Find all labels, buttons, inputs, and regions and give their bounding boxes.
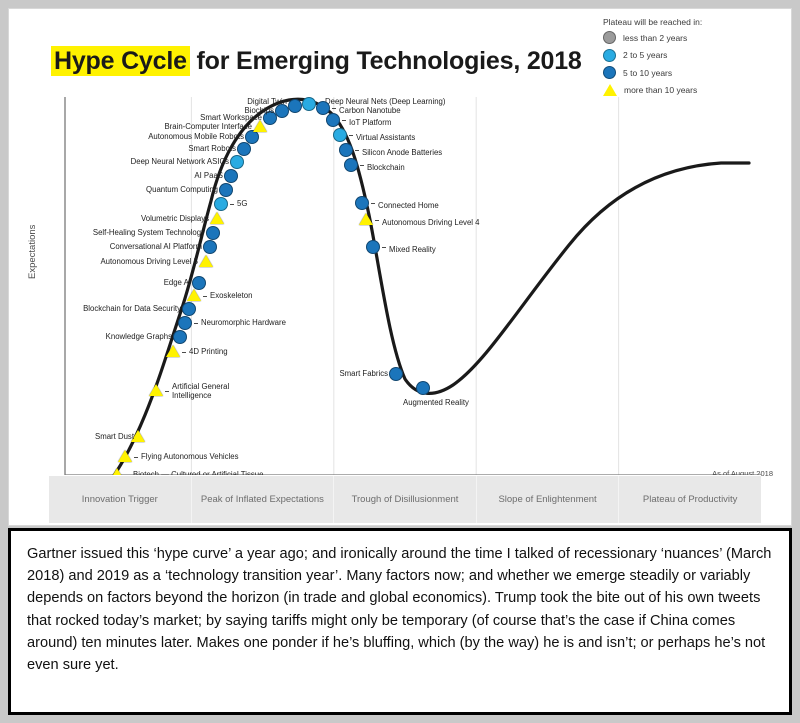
legend-title: Plateau will be reached in:: [603, 17, 753, 27]
legend: Plateau will be reached in: less than 2 …: [603, 17, 753, 100]
phase-label: Peak of Inflated Expectations: [192, 476, 335, 523]
hype-curve-plot: Biotech — Cultured or Artificial TissueF…: [49, 97, 761, 497]
title-highlight: Hype Cycle: [51, 46, 190, 76]
technology-marker[interactable]: [166, 345, 180, 357]
legend-item: 5 to 10 years: [603, 66, 753, 79]
technology-marker-label: Silicon Anode Batteries: [362, 148, 442, 157]
technology-marker-label: Deep Neural Nets (Deep Learning): [325, 97, 445, 106]
technology-marker-label: Biochips: [49, 106, 274, 115]
technology-marker-label: Smart Fabrics: [49, 369, 388, 378]
technology-marker[interactable]: [237, 142, 251, 156]
technology-marker[interactable]: [302, 97, 316, 111]
page-title: Hype Cycle for Emerging Technologies, 20…: [51, 47, 582, 76]
leader-line: [375, 220, 379, 221]
legend-item: 2 to 5 years: [603, 49, 753, 62]
technology-marker[interactable]: [339, 143, 353, 157]
technology-marker[interactable]: [219, 183, 233, 197]
technology-marker-label: Autonomous Mobile Robots: [49, 132, 244, 141]
leader-line: [360, 165, 364, 166]
technology-marker-label: Exoskeleton: [210, 291, 252, 300]
technology-marker-label: AI PaaS: [49, 171, 223, 180]
technology-marker[interactable]: [192, 276, 206, 290]
technology-marker[interactable]: [206, 226, 220, 240]
technology-marker[interactable]: [288, 99, 302, 113]
technology-marker[interactable]: [326, 113, 340, 127]
legend-circle-icon: [603, 49, 616, 62]
technology-marker-label: Smart Dust: [49, 432, 134, 441]
leader-line: [349, 135, 353, 136]
leader-line: [371, 203, 375, 204]
technology-marker-label: Volumetric Displays: [49, 214, 209, 223]
technology-marker-label: Smart Robots: [49, 144, 236, 153]
technology-marker-label: Flying Autonomous Vehicles: [141, 452, 239, 461]
legend-circle-icon: [603, 66, 616, 79]
legend-item: less than 2 years: [603, 31, 753, 44]
technology-marker[interactable]: [355, 196, 369, 210]
phase-band: Innovation TriggerPeak of Inflated Expec…: [49, 475, 761, 523]
technology-marker[interactable]: [199, 255, 213, 267]
technology-marker-label: Digital Twin: [49, 97, 287, 106]
technology-marker-label: Artificial General Intelligence: [172, 382, 244, 400]
technology-marker-label: Self-Healing System Technology: [49, 228, 205, 237]
caption-box: Gartner issued this ‘hype curve’ a year …: [8, 528, 792, 715]
technology-marker[interactable]: [173, 330, 187, 344]
technology-marker-label: IoT Platform: [349, 118, 391, 127]
technology-marker-label: Carbon Nanotube: [339, 106, 401, 115]
leader-line: [382, 247, 386, 248]
technology-marker-label: Knowledge Graphs: [49, 332, 172, 341]
legend-rows: less than 2 years2 to 5 years5 to 10 yea…: [603, 31, 753, 96]
technology-marker[interactable]: [149, 384, 163, 396]
technology-marker-label: Edge AI: [49, 278, 191, 287]
technology-marker[interactable]: [203, 240, 217, 254]
technology-marker[interactable]: [245, 130, 259, 144]
technology-marker-label: 4D Printing: [189, 347, 228, 356]
screenshot-root: Hype Cycle for Emerging Technologies, 20…: [0, 0, 800, 723]
technology-marker[interactable]: [333, 128, 347, 142]
leader-line: [203, 296, 207, 297]
technology-marker[interactable]: [366, 240, 380, 254]
technology-marker-label: Connected Home: [378, 201, 439, 210]
technology-marker-label: Blockchain: [367, 163, 405, 172]
technology-marker-label: Mixed Reality: [389, 245, 436, 254]
technology-marker[interactable]: [224, 169, 238, 183]
legend-triangle-icon: [603, 84, 617, 96]
legend-item-label: less than 2 years: [623, 33, 687, 43]
legend-item-label: 5 to 10 years: [623, 68, 672, 78]
technology-marker[interactable]: [187, 289, 201, 301]
technology-marker[interactable]: [178, 316, 192, 330]
technology-marker[interactable]: [214, 197, 228, 211]
leader-line: [332, 108, 336, 109]
technology-marker-label: Deep Neural Network ASICs: [49, 157, 229, 166]
technology-marker[interactable]: [230, 155, 244, 169]
legend-item: more than 10 years: [603, 84, 753, 96]
technology-marker-label: Quantum Computing: [49, 185, 218, 194]
leader-line: [165, 391, 169, 392]
technology-marker[interactable]: [210, 212, 224, 224]
technology-marker-label: Augmented Reality: [403, 398, 469, 407]
phase-label: Slope of Enlightenment: [477, 476, 620, 523]
leader-line: [230, 204, 234, 205]
technology-marker[interactable]: [182, 302, 196, 316]
legend-circle-icon: [603, 31, 616, 44]
technology-marker[interactable]: [389, 367, 403, 381]
leader-line: [355, 150, 359, 151]
phase-label: Trough of Disillusionment: [334, 476, 477, 523]
technology-marker[interactable]: [416, 381, 430, 395]
leader-line: [342, 120, 346, 121]
leader-line: [194, 323, 198, 324]
phase-label: Plateau of Productivity: [619, 476, 761, 523]
technology-marker-label: Blockchain for Data Security: [49, 304, 181, 313]
leader-line: [134, 457, 138, 458]
technology-marker[interactable]: [118, 450, 132, 462]
y-axis-label: Expectations: [27, 225, 38, 279]
technology-marker-label: Brain-Computer Interface: [49, 122, 252, 131]
legend-item-label: 2 to 5 years: [623, 50, 667, 60]
technology-marker-label: Autonomous Driving Level 4: [382, 218, 480, 227]
legend-item-label: more than 10 years: [624, 85, 697, 95]
technology-marker-label: Virtual Assistants: [356, 133, 415, 142]
technology-marker[interactable]: [316, 101, 330, 115]
technology-marker[interactable]: [359, 213, 373, 225]
technology-marker-label: Neuromorphic Hardware: [201, 318, 286, 327]
leader-line: [182, 352, 186, 353]
technology-marker[interactable]: [344, 158, 358, 172]
technology-marker-label: Autonomous Driving Level 5: [49, 257, 198, 266]
technology-marker-label: 5G: [237, 199, 247, 208]
caption-text: Gartner issued this ‘hype curve’ a year …: [27, 543, 773, 676]
hype-cycle-chart-card: Hype Cycle for Emerging Technologies, 20…: [8, 8, 792, 526]
technology-marker-label: Conversational AI Platform: [49, 242, 202, 251]
title-rest: for Emerging Technologies, 2018: [190, 47, 582, 75]
phase-label: Innovation Trigger: [49, 476, 192, 523]
